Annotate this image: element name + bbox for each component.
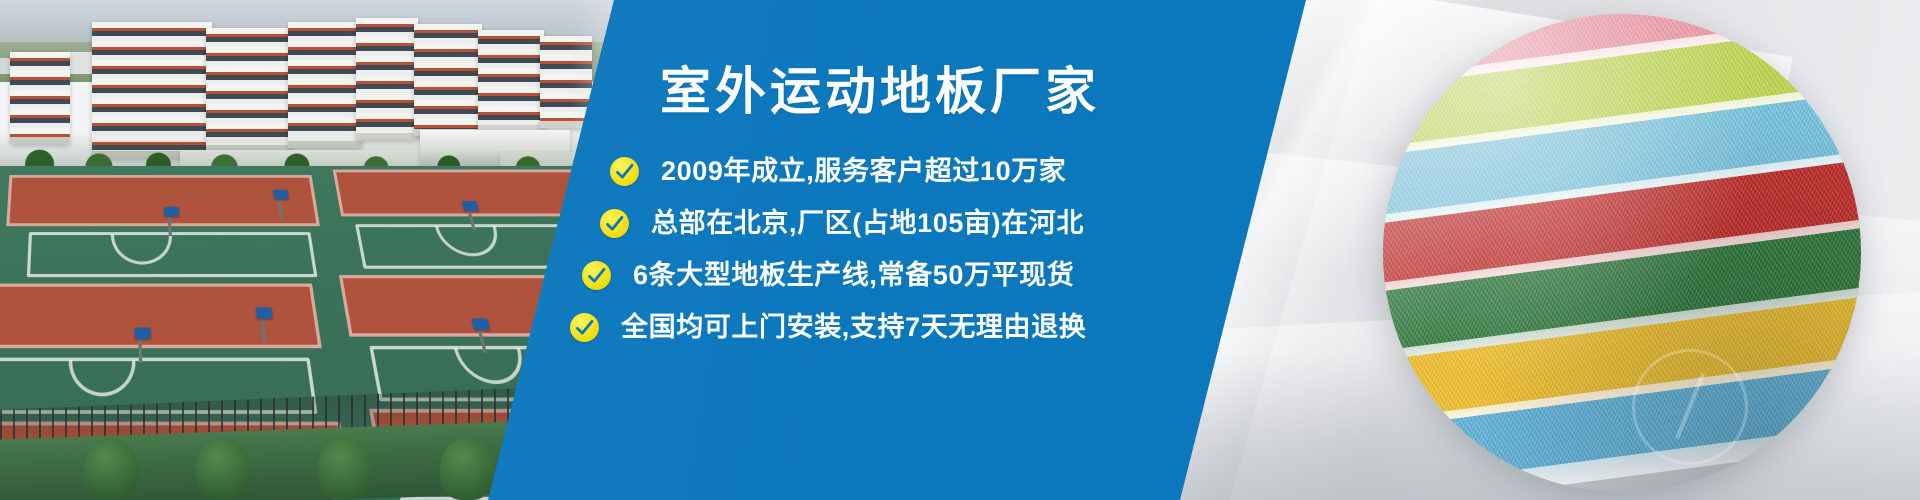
watermark-logo-icon: [1632, 349, 1748, 465]
check-circle-icon: [600, 209, 629, 238]
flooring-stripe-stack: [1383, 14, 1861, 492]
selling-point-text: 全国均可上门安装,支持7天无理由退换: [621, 314, 1086, 341]
flooring-samples-circle-photo: [1383, 14, 1861, 492]
check-icon: [586, 265, 607, 286]
check-icon: [604, 213, 625, 234]
selling-point-list: 2009年成立,服务客户超过10万家总部在北京,厂区(占地105亩)在河北6条大…: [600, 145, 1220, 353]
check-circle-icon: [570, 313, 599, 342]
check-icon: [614, 161, 635, 182]
promo-banner: 室外运动地板厂家 2009年成立,服务客户超过10万家总部在北京,厂区(占地10…: [0, 0, 1920, 500]
selling-point-item: 总部在北京,厂区(占地105亩)在河北: [600, 197, 1220, 249]
selling-point-text: 6条大型地板生产线,常备50万平现货: [633, 262, 1074, 289]
selling-point-item: 6条大型地板生产线,常备50万平现货: [582, 249, 1220, 301]
check-icon: [574, 317, 595, 338]
panel-content: 室外运动地板厂家 2009年成立,服务客户超过10万家总部在北京,厂区(占地10…: [0, 0, 1320, 500]
check-circle-icon: [610, 157, 639, 186]
selling-point-item: 全国均可上门安装,支持7天无理由退换: [570, 301, 1220, 353]
check-circle-icon: [582, 261, 611, 290]
selling-point-text: 2009年成立,服务客户超过10万家: [661, 158, 1066, 185]
selling-point-text: 总部在北京,厂区(占地105亩)在河北: [651, 210, 1084, 237]
page-title: 室外运动地板厂家: [660, 66, 1100, 117]
selling-point-item: 2009年成立,服务客户超过10万家: [610, 145, 1220, 197]
